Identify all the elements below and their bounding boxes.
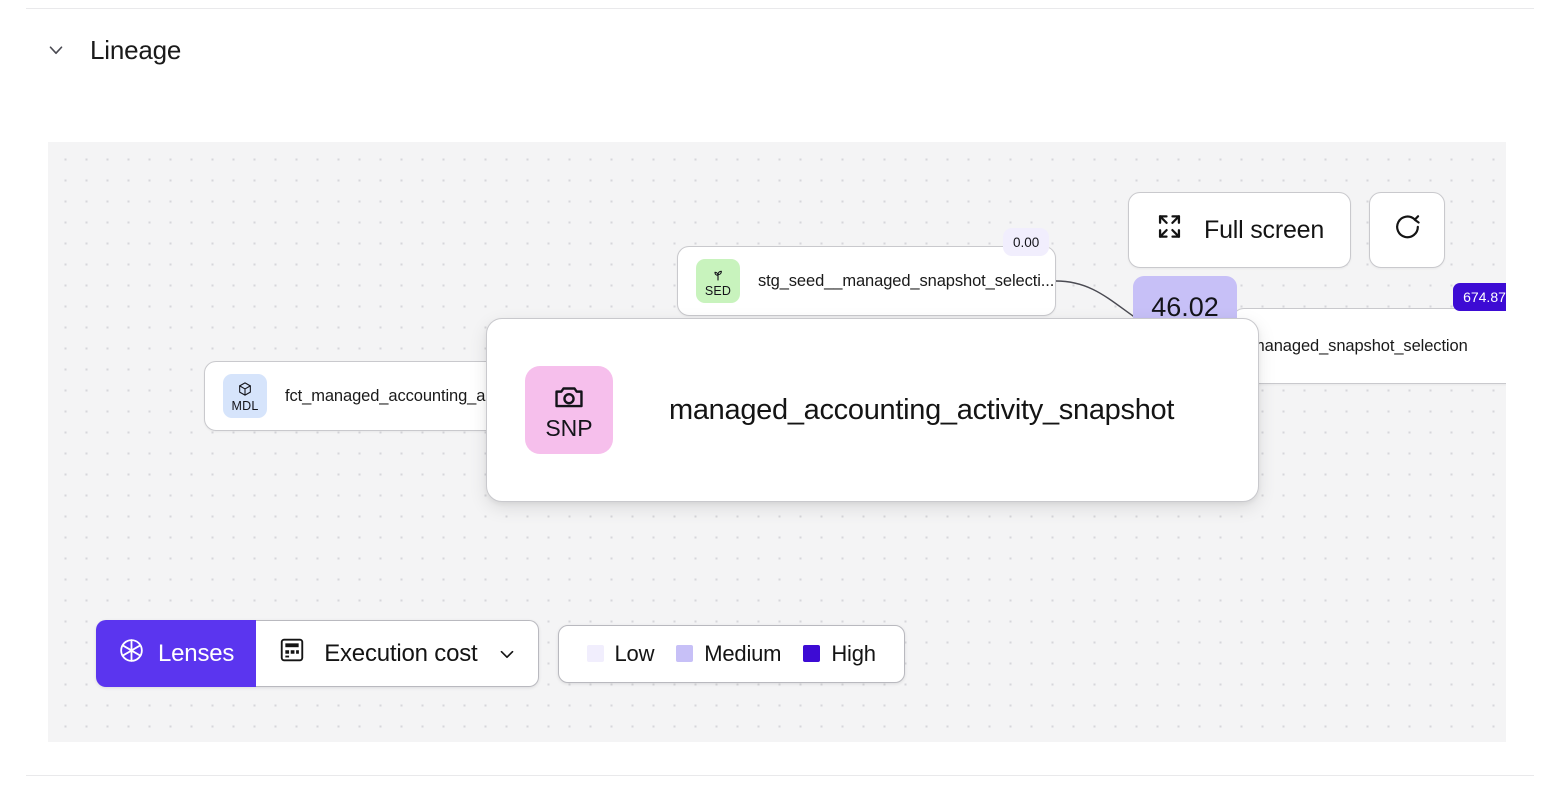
cube-icon xyxy=(237,380,253,399)
node-label: fct_managed_accounting_act xyxy=(285,387,498,406)
legend-item-medium: Medium xyxy=(676,641,781,667)
legend-swatch-medium xyxy=(676,645,693,662)
node-type-code: MDL xyxy=(232,400,259,413)
legend-item-low: Low xyxy=(587,641,655,667)
refresh-button[interactable] xyxy=(1369,192,1445,268)
node-label: stg_seed__managed_snapshot_selecti... xyxy=(758,272,1054,291)
node-type-code: SNP xyxy=(545,417,592,440)
lenses-control-group: Lenses Execution cost xyxy=(96,620,539,687)
top-divider xyxy=(26,8,1534,9)
lens-select[interactable]: Execution cost xyxy=(256,620,538,687)
expand-arrows-icon xyxy=(1155,212,1184,248)
seedling-icon xyxy=(710,265,726,284)
legend-item-high: High xyxy=(803,641,875,667)
node-type-code: SED xyxy=(705,285,731,298)
lens-controls: Lenses Execution cost xyxy=(96,620,905,687)
cost-badge-high[interactable]: 674.87 xyxy=(1453,283,1506,311)
node-type-badge-snp: SNP xyxy=(525,366,613,454)
lenses-label: Lenses xyxy=(158,640,234,668)
bottom-divider xyxy=(26,775,1534,776)
node-label: managed_snapshot_selection xyxy=(1251,337,1468,356)
node-hover-tooltip: SNP managed_accounting_activity_snapshot xyxy=(486,318,1259,502)
cost-badge-low[interactable]: 0.00 xyxy=(1003,228,1049,256)
legend-swatch-low xyxy=(587,645,604,662)
legend-label: High xyxy=(831,641,875,667)
calculator-icon xyxy=(278,636,306,671)
camera-icon xyxy=(552,380,586,414)
lineage-node-seed[interactable]: SED stg_seed__managed_snapshot_selecti..… xyxy=(677,246,1056,316)
refresh-icon xyxy=(1392,212,1423,248)
chevron-down-icon xyxy=(496,643,518,665)
lineage-page: Lineage SED stg_see xyxy=(0,0,1560,798)
page-title: Lineage xyxy=(90,37,181,63)
node-type-badge-mdl: MDL xyxy=(223,374,267,418)
node-type-badge-sed: SED xyxy=(696,259,740,303)
legend-swatch-high xyxy=(803,645,820,662)
aperture-icon xyxy=(118,637,145,671)
chevron-down-icon[interactable] xyxy=(42,36,70,64)
lens-select-value: Execution cost xyxy=(324,640,477,668)
lenses-button[interactable]: Lenses xyxy=(96,620,256,687)
full-screen-button[interactable]: Full screen xyxy=(1128,192,1351,268)
tooltip-node-label: managed_accounting_activity_snapshot xyxy=(669,394,1174,427)
cost-legend: Low Medium High xyxy=(558,625,905,683)
legend-label: Medium xyxy=(704,641,781,667)
full-screen-label: Full screen xyxy=(1204,216,1324,245)
canvas-toolbar: Full screen xyxy=(1128,192,1445,268)
lineage-section-header: Lineage xyxy=(42,36,181,64)
legend-label: Low xyxy=(615,641,655,667)
lineage-node-snapshot-selection[interactable]: managed_snapshot_selection xyxy=(1232,308,1506,384)
